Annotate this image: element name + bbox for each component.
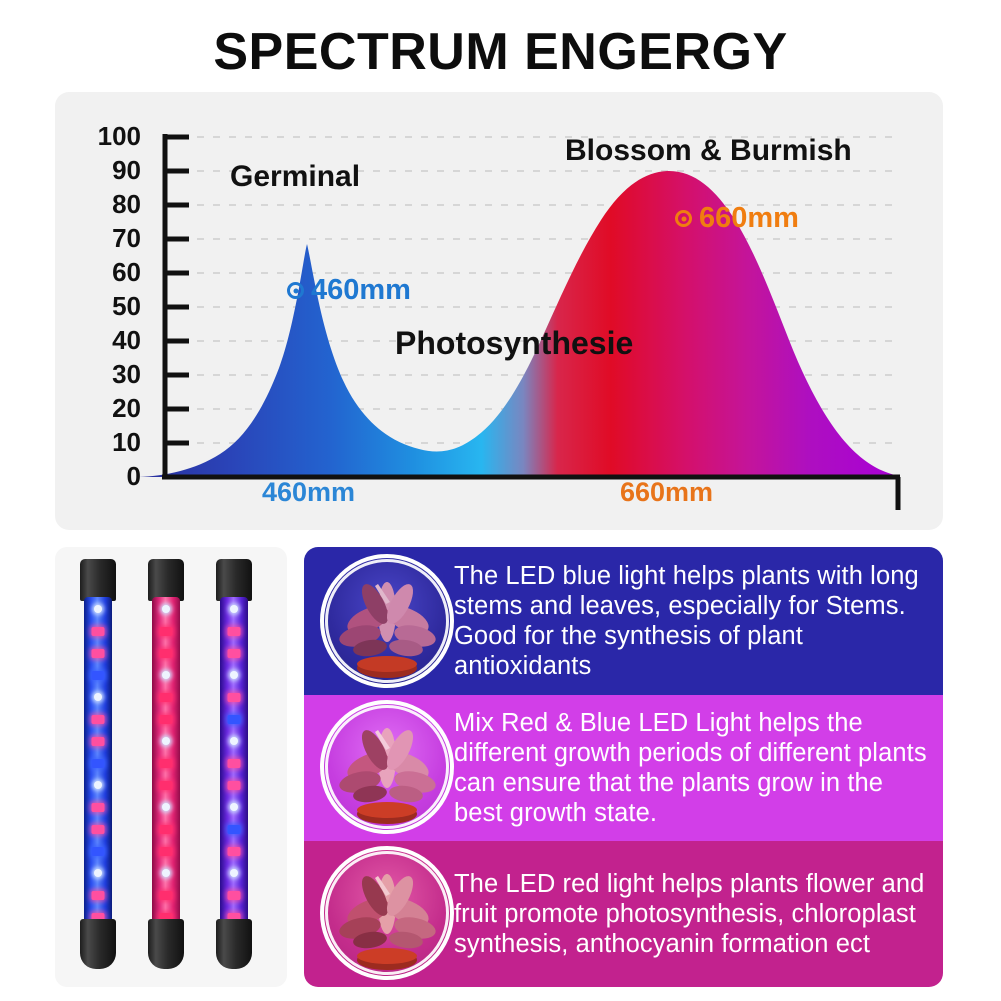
plant-under-mixed-light-photo — [320, 700, 454, 834]
led-light — [92, 715, 105, 724]
chart-y-ticks — [165, 137, 189, 443]
led-light — [92, 847, 105, 856]
led-light — [92, 759, 105, 768]
photo-ring — [325, 705, 449, 829]
target-dot-icon — [675, 210, 692, 227]
tube-bottom-cap — [80, 919, 116, 969]
led-light — [162, 671, 170, 679]
led-light — [160, 781, 173, 790]
led-light — [92, 737, 105, 746]
led-light — [228, 825, 241, 834]
led-strip — [152, 597, 180, 923]
photo-ring — [325, 851, 449, 975]
target-dot-icon — [287, 282, 304, 299]
x-tick-660mm: 660mm — [620, 477, 713, 508]
chart-plot-area: 100 90 80 70 60 50 40 30 20 10 0 Germina… — [55, 92, 943, 530]
led-light — [228, 759, 241, 768]
led-light — [160, 649, 173, 658]
led-light — [92, 671, 105, 680]
blue-light-panel-text: The LED blue light helps plants with lon… — [454, 561, 927, 681]
tube-body — [84, 597, 112, 923]
led-tube-group — [55, 547, 287, 987]
marker-460mm-label: 460mm — [311, 274, 411, 307]
led-light — [94, 781, 102, 789]
plant-under-red-light-photo — [320, 846, 454, 980]
led-light — [160, 825, 173, 834]
x-tick-460mm: 460mm — [262, 477, 355, 508]
led-light — [160, 693, 173, 702]
red-led-tube — [147, 559, 185, 969]
y-tick-80: 80 — [85, 191, 141, 217]
red-light-panel-text: The LED red light helps plants flower an… — [454, 869, 927, 959]
y-tick-0: 0 — [85, 463, 141, 489]
led-light — [228, 693, 241, 702]
led-strip — [84, 597, 112, 923]
led-light — [228, 781, 241, 790]
y-tick-70: 70 — [85, 225, 141, 251]
y-tick-40: 40 — [85, 327, 141, 353]
photo-ring — [325, 559, 449, 683]
y-tick-90: 90 — [85, 157, 141, 183]
led-light — [230, 869, 238, 877]
tube-body — [220, 597, 248, 923]
led-light — [160, 847, 173, 856]
marker-660mm: 660mm — [675, 202, 799, 235]
tube-body — [152, 597, 180, 923]
led-light — [162, 605, 170, 613]
page-title: SPECTRUM ENGERGY — [0, 22, 1001, 82]
led-light — [92, 627, 105, 636]
spectrum-energy-infographic: SPECTRUM ENGERGY — [0, 0, 1001, 1001]
led-light — [92, 649, 105, 658]
mixed-light-panel-text: Mix Red & Blue LED Light helps the diffe… — [454, 708, 927, 828]
tube-bottom-cap — [148, 919, 184, 969]
feature-panels: The LED blue light helps plants with lon… — [304, 547, 943, 987]
y-tick-60: 60 — [85, 259, 141, 285]
led-light — [92, 825, 105, 834]
y-tick-100: 100 — [85, 123, 141, 149]
led-light — [162, 737, 170, 745]
tube-top-cap — [148, 559, 184, 601]
led-light — [92, 891, 105, 900]
led-light — [160, 627, 173, 636]
y-tick-20: 20 — [85, 395, 141, 421]
mixed-led-tube — [215, 559, 253, 969]
led-strip — [220, 597, 248, 923]
led-light — [162, 803, 170, 811]
annotation-blossom-burmish: Blossom & Burmish — [565, 134, 852, 168]
led-light — [160, 891, 173, 900]
features-section: The LED blue light helps plants with lon… — [55, 547, 943, 987]
led-light — [160, 759, 173, 768]
led-light — [94, 605, 102, 613]
led-light — [230, 671, 238, 679]
annotation-photosynthesie: Photosynthesie — [395, 325, 633, 362]
annotation-germinal: Germinal — [230, 160, 360, 194]
led-light — [228, 715, 241, 724]
led-light — [94, 693, 102, 701]
marker-660mm-label: 660mm — [699, 202, 799, 235]
led-light — [228, 891, 241, 900]
tube-top-cap — [216, 559, 252, 601]
tube-bottom-cap — [216, 919, 252, 969]
tube-top-cap — [80, 559, 116, 601]
led-light — [230, 803, 238, 811]
led-light — [160, 715, 173, 724]
led-light — [230, 737, 238, 745]
led-light — [228, 627, 241, 636]
chart-y-axis-labels: 100 90 80 70 60 50 40 30 20 10 0 — [85, 92, 141, 530]
led-light — [230, 605, 238, 613]
led-light — [228, 847, 241, 856]
led-light — [162, 869, 170, 877]
blue-led-tube — [79, 559, 117, 969]
led-light — [94, 869, 102, 877]
led-light — [92, 803, 105, 812]
marker-460mm: 460mm — [287, 274, 411, 307]
plant-under-blue-light-photo — [320, 554, 454, 688]
led-light — [228, 649, 241, 658]
spectrum-chart-card: 100 90 80 70 60 50 40 30 20 10 0 Germina… — [55, 92, 943, 530]
y-tick-10: 10 — [85, 429, 141, 455]
y-tick-50: 50 — [85, 293, 141, 319]
y-tick-30: 30 — [85, 361, 141, 387]
